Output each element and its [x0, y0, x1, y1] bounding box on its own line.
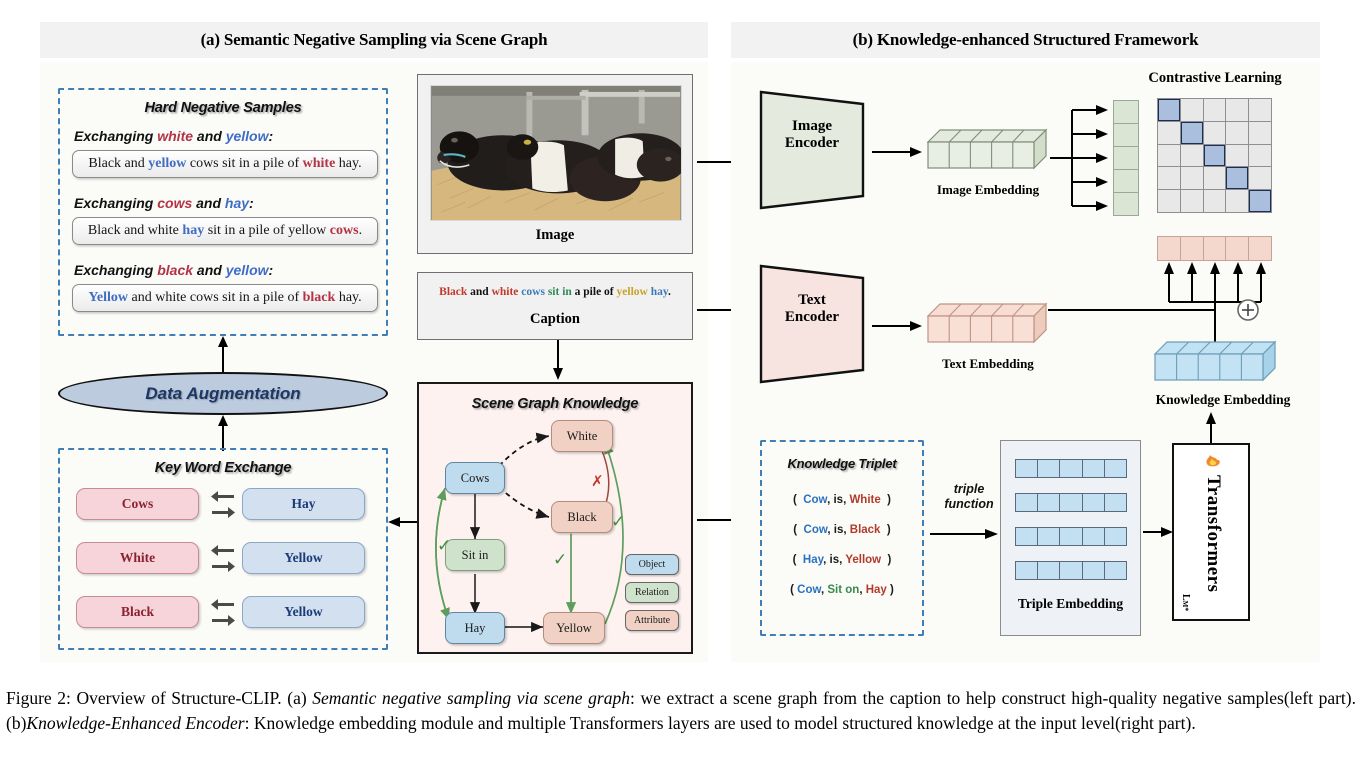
kw-left-3: Black	[76, 596, 199, 628]
triple-embedding-row	[1015, 527, 1127, 546]
kw-left-2: White	[76, 542, 199, 574]
line-knowledge-to-plus	[1207, 300, 1223, 342]
plus-circle-icon	[1236, 298, 1260, 322]
arrow-te-to-transformers	[1143, 522, 1175, 542]
triplet-row-3: ( Hay, is, Yellow )	[762, 554, 922, 566]
exch3-word2: yellow	[226, 262, 269, 278]
triple-embedding-row	[1015, 561, 1127, 580]
triplet-row-2: ( Cow, is, Black )	[762, 524, 922, 536]
sg-node-black: Black	[551, 501, 613, 533]
exchange-label-3: Exchanging black and yellow:	[74, 262, 273, 278]
sg-legend-relation: Relation	[625, 582, 679, 603]
triplet1-predicate: is	[833, 494, 843, 506]
exchange-label-1: Exchanging white and yellow:	[74, 128, 273, 144]
exch3-mid: and	[193, 262, 226, 278]
triple-function-line1: triple	[954, 482, 985, 496]
swap-arrows-icon-2	[210, 544, 236, 572]
knowledge-embedding-bar	[1155, 340, 1279, 388]
matrix-cell	[1226, 122, 1248, 144]
text-embedding-label: Text Embedding	[922, 356, 1054, 372]
exchange-label-2: Exchanging cows and hay:	[74, 195, 254, 211]
exch3-suffix: :	[269, 262, 274, 278]
matrix-cell	[1226, 99, 1248, 121]
triplet1-close: )	[887, 494, 891, 506]
matrix-cell	[1158, 145, 1180, 167]
image-embedding-vstrip	[1113, 100, 1139, 216]
matrix-cell	[1249, 190, 1271, 212]
triplet3-open: (	[793, 554, 797, 566]
triplet2-object: Black	[850, 524, 881, 536]
triplet3-object: Yellow	[845, 554, 881, 566]
hard-negative-samples-title: Hard Negative Samples	[60, 100, 386, 116]
figure-caption: Figure 2: Overview of Structure-CLIP. (a…	[6, 686, 1356, 736]
arrow-imgenc-to-imgemb	[872, 142, 924, 162]
sample-sentence-3: Yellow and white cows sit in a pile of b…	[72, 284, 378, 312]
knowledge-triplet-box: Knowledge Triplet ( Cow, is, White ) ( C…	[760, 440, 924, 636]
triplet1-open: (	[793, 494, 797, 506]
kw-right-3: Yellow	[242, 596, 365, 628]
sg-tick-mid: ✓	[553, 550, 567, 570]
sg-node-sit-in: Sit in	[445, 539, 505, 571]
hstrip-cell	[1204, 237, 1227, 260]
triple-function-label: triple function	[930, 482, 1008, 512]
triplet3-close: )	[888, 554, 892, 566]
triplet4-predicate: Sit on	[827, 584, 859, 596]
triplet-row-4: ( Cow, Sit on, Hay )	[762, 584, 922, 596]
arrow-kwe-to-aug	[210, 415, 236, 451]
triplet2-subject: Cow	[804, 524, 828, 536]
image-embedding-label: Image Embedding	[920, 182, 1056, 198]
triplet-row-1: ( Cow, is, White )	[762, 494, 922, 506]
kw-left-1: Cows	[76, 488, 199, 520]
triplet2-open: (	[793, 524, 797, 536]
matrix-cell	[1158, 167, 1180, 189]
sg-tick-left: ✓	[437, 536, 451, 556]
contrastive-matrix	[1157, 98, 1272, 213]
transformers-sub-M: M	[1181, 600, 1189, 607]
exch1-mid: and	[193, 128, 226, 144]
exch3-prefix: Exchanging	[74, 262, 157, 278]
swap-arrows-icon-3	[210, 598, 236, 626]
image-embedding-bar	[928, 128, 1048, 176]
triplet3-predicate: is	[830, 554, 840, 566]
matrix-cell	[1204, 145, 1226, 167]
image-encoder-line1: Image	[792, 118, 832, 134]
triple-embedding-label: Triple Embedding	[1001, 596, 1140, 612]
key-word-exchange-box: Key Word Exchange Cows Hay White Yellow …	[58, 448, 388, 650]
triplet4-subject: Cow	[797, 584, 821, 596]
image-encoder-label: Image Encoder	[757, 118, 867, 153]
matrix-cell	[1158, 190, 1180, 212]
line-textemb-to-plus	[1048, 300, 1228, 316]
source-photo	[430, 85, 682, 221]
arrow-txtenc-to-txtemb	[872, 316, 924, 336]
text-encoder-line1: Text	[798, 292, 826, 308]
image-block: Image	[417, 74, 693, 254]
matrix-cell	[1204, 122, 1226, 144]
sg-cross: ✗	[591, 472, 604, 490]
matrix-cell	[1204, 167, 1226, 189]
text-encoder-label: Text Encoder	[757, 292, 867, 327]
exch2-word2: hay	[225, 195, 249, 211]
sg-legend-attribute: Attribute	[625, 610, 679, 631]
vstrip-cell	[1114, 170, 1138, 193]
panel-b-header: (b) Knowledge-enhanced Structured Framew…	[731, 22, 1320, 58]
sg-node-hay: Hay	[445, 612, 505, 644]
kw-right-1: Hay	[242, 488, 365, 520]
transformers-sublabel: LM*	[1180, 594, 1191, 611]
figure-root: (a) Semantic Negative Sampling via Scene…	[0, 0, 1362, 780]
image-encoder-line2: Encoder	[785, 135, 839, 151]
matrix-cell	[1226, 145, 1248, 167]
matrix-cell	[1158, 99, 1180, 121]
arrow-caption-to-scenegraph	[548, 340, 568, 382]
arrow-aug-to-hns	[210, 336, 236, 374]
caption-label: Caption	[418, 311, 692, 328]
matrix-cell	[1249, 122, 1271, 144]
arrow-sg-to-kwe	[388, 512, 420, 532]
text-encoder-line2: Encoder	[785, 309, 839, 325]
matrix-cell	[1226, 190, 1248, 212]
panel-a-header: (a) Semantic Negative Sampling via Scene…	[40, 22, 708, 58]
triple-function-line2: function	[944, 497, 993, 511]
sg-legend-object: Object	[625, 554, 679, 575]
text-embedding-bar	[928, 302, 1048, 350]
vstrip-cell	[1114, 193, 1138, 215]
exch1-suffix: :	[268, 128, 273, 144]
hstrip-cell	[1158, 237, 1181, 260]
matrix-cell	[1181, 190, 1203, 212]
triplet1-object: White	[849, 494, 880, 506]
transformers-star: *	[1181, 607, 1190, 611]
matrix-cell	[1204, 190, 1226, 212]
triple-embedding-box: Triple Embedding	[1000, 440, 1141, 636]
kw-right-2: Yellow	[242, 542, 365, 574]
sg-node-yellow: Yellow	[543, 612, 605, 644]
matrix-cell	[1181, 99, 1203, 121]
hstrip-cell	[1249, 237, 1271, 260]
exch2-mid: and	[192, 195, 225, 211]
exch1-prefix: Exchanging	[74, 128, 157, 144]
triplet4-close: )	[890, 584, 894, 596]
key-word-exchange-title: Key Word Exchange	[60, 460, 386, 476]
fused-embedding-hstrip	[1157, 236, 1272, 261]
exch1-word2: yellow	[226, 128, 269, 144]
scene-graph-box: Scene Graph Knowledge	[417, 382, 693, 654]
triplet4-object: Hay	[866, 584, 887, 596]
knowledge-triplet-title: Knowledge Triplet	[762, 456, 922, 471]
triplet4-open: (	[790, 584, 794, 596]
triplet3-subject: Hay	[803, 554, 823, 566]
exch3-word1: black	[157, 262, 193, 278]
sample-sentence-1: Black and yellow cows sit in a pile of w…	[72, 150, 378, 178]
caption-sentence: Black and white cows sit in a pile of ye…	[418, 286, 692, 298]
hard-negative-samples-box: Hard Negative Samples Exchanging white a…	[58, 88, 388, 336]
exch2-word1: cows	[157, 195, 192, 211]
exch2-prefix: Exchanging	[74, 195, 157, 211]
triple-embedding-row	[1015, 459, 1127, 478]
data-augmentation-ellipse: Data Augmentation	[58, 372, 388, 415]
matrix-cell	[1158, 122, 1180, 144]
triplet1-subject: Cow	[803, 494, 827, 506]
matrix-cell	[1204, 99, 1226, 121]
sg-tick-right: ✓	[611, 512, 625, 532]
arrow-transformers-to-knowledge	[1203, 412, 1223, 446]
matrix-cell	[1249, 145, 1271, 167]
matrix-cell	[1226, 167, 1248, 189]
sample-sentence-2: Black and white hay sit in a pile of yel…	[72, 217, 378, 245]
matrix-cell	[1181, 167, 1203, 189]
hstrip-cell	[1226, 237, 1249, 260]
knowledge-embedding-label: Knowledge Embedding	[1140, 392, 1306, 408]
arrows-fanout-image	[1050, 98, 1112, 218]
contrastive-learning-label: Contrastive Learning	[1129, 70, 1301, 87]
transformers-box: Transformers LM*	[1172, 443, 1250, 621]
image-label: Image	[418, 227, 692, 244]
caption-block: Black and white cows sit in a pile of ye…	[417, 272, 693, 340]
swap-arrows-icon-1	[210, 490, 236, 518]
exch1-word1: white	[157, 128, 193, 144]
triplet2-predicate: is	[834, 524, 844, 536]
sg-node-white: White	[551, 420, 613, 452]
sg-node-cows: Cows	[445, 462, 505, 494]
matrix-cell	[1181, 122, 1203, 144]
vstrip-cell	[1114, 124, 1138, 147]
triple-embedding-row	[1015, 493, 1127, 512]
vstrip-cell	[1114, 147, 1138, 170]
triplet2-close: )	[887, 524, 891, 536]
matrix-cell	[1181, 145, 1203, 167]
arrow-triplet-to-embedding	[930, 524, 1000, 544]
exch2-suffix: :	[249, 195, 254, 211]
photo-svg	[431, 86, 681, 220]
matrix-cell	[1249, 99, 1271, 121]
matrix-cell	[1249, 167, 1271, 189]
vstrip-cell	[1114, 101, 1138, 124]
hstrip-cell	[1181, 237, 1204, 260]
